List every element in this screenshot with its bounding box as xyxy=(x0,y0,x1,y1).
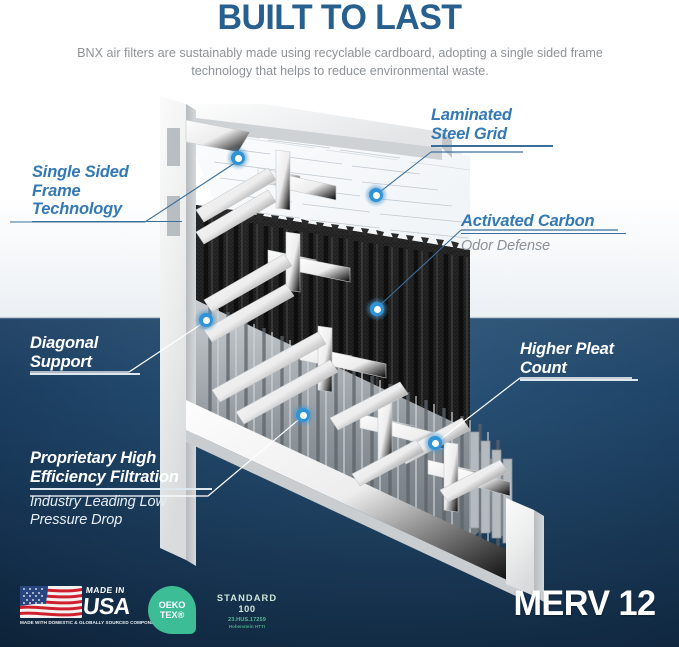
oeko-standard-number: 100 xyxy=(204,604,290,614)
callout-label: Laminated Steel Grid xyxy=(431,106,553,143)
hotspot-activated-carbon[interactable] xyxy=(365,297,389,321)
callout-rule xyxy=(431,145,553,147)
callout-laminated-steel-grid: Laminated Steel Grid xyxy=(431,106,553,147)
callout-label: Higher Pleat Count xyxy=(520,340,638,377)
oeko-institute-label: Hohenstein HTTI xyxy=(204,624,290,629)
oeko-standard-label: STANDARD xyxy=(204,593,290,603)
callout-label: Proprietary High Efficiency Filtration xyxy=(30,449,212,486)
usa-fine-print: MADE WITH DOMESTIC & GLOBALLY SOURCED CO… xyxy=(20,620,138,625)
callout-rule xyxy=(30,488,212,490)
callout-proprietary-high-efficiency-filtration: Proprietary High Efficiency Filtration I… xyxy=(30,449,212,529)
callout-rule xyxy=(32,221,182,223)
oeko-certificate-code: 23.HUS.17259 xyxy=(204,617,290,623)
callout-rule xyxy=(461,233,626,235)
usa-label: USA xyxy=(82,593,132,620)
callout-single-sided-frame-technology: Single Sided Frame Technology xyxy=(32,163,182,222)
hotspot-single-sided-frame[interactable] xyxy=(226,146,250,170)
hotspot-diagonal-support[interactable] xyxy=(194,308,218,332)
callout-subtext: Odor Defense xyxy=(461,237,626,255)
merv-rating-label: MERV 12 xyxy=(513,584,655,624)
callout-rule xyxy=(520,379,638,381)
callout-label: Diagonal Support xyxy=(30,334,140,371)
callout-activated-carbon: Activated Carbon Odor Defense xyxy=(461,212,626,255)
callout-label: Activated Carbon xyxy=(461,212,626,231)
hotspot-higher-pleat-count[interactable] xyxy=(423,431,447,455)
callout-subtext: Industry Leading Low Pressure Drop xyxy=(30,493,212,529)
made-in-usa-badge: MADE IN USA MADE WITH DOMESTIC & GLOBALL… xyxy=(20,584,138,628)
oeko-label-line1: OEKO xyxy=(155,600,189,610)
usa-flag-icon xyxy=(20,586,82,618)
hotspot-proprietary-filtration[interactable] xyxy=(291,403,315,427)
callout-label: Single Sided Frame Technology xyxy=(32,163,182,219)
oeko-label-line2: TEX® xyxy=(155,610,189,620)
infographic-canvas: BUILT TO LAST BNX air filters are sustai… xyxy=(0,0,679,647)
hotspot-laminated-steel-grid[interactable] xyxy=(364,183,388,207)
callout-higher-pleat-count: Higher Pleat Count xyxy=(520,340,638,381)
callout-leader-lines xyxy=(0,0,679,647)
callout-diagonal-support: Diagonal Support xyxy=(30,334,140,375)
callout-rule xyxy=(30,373,140,375)
